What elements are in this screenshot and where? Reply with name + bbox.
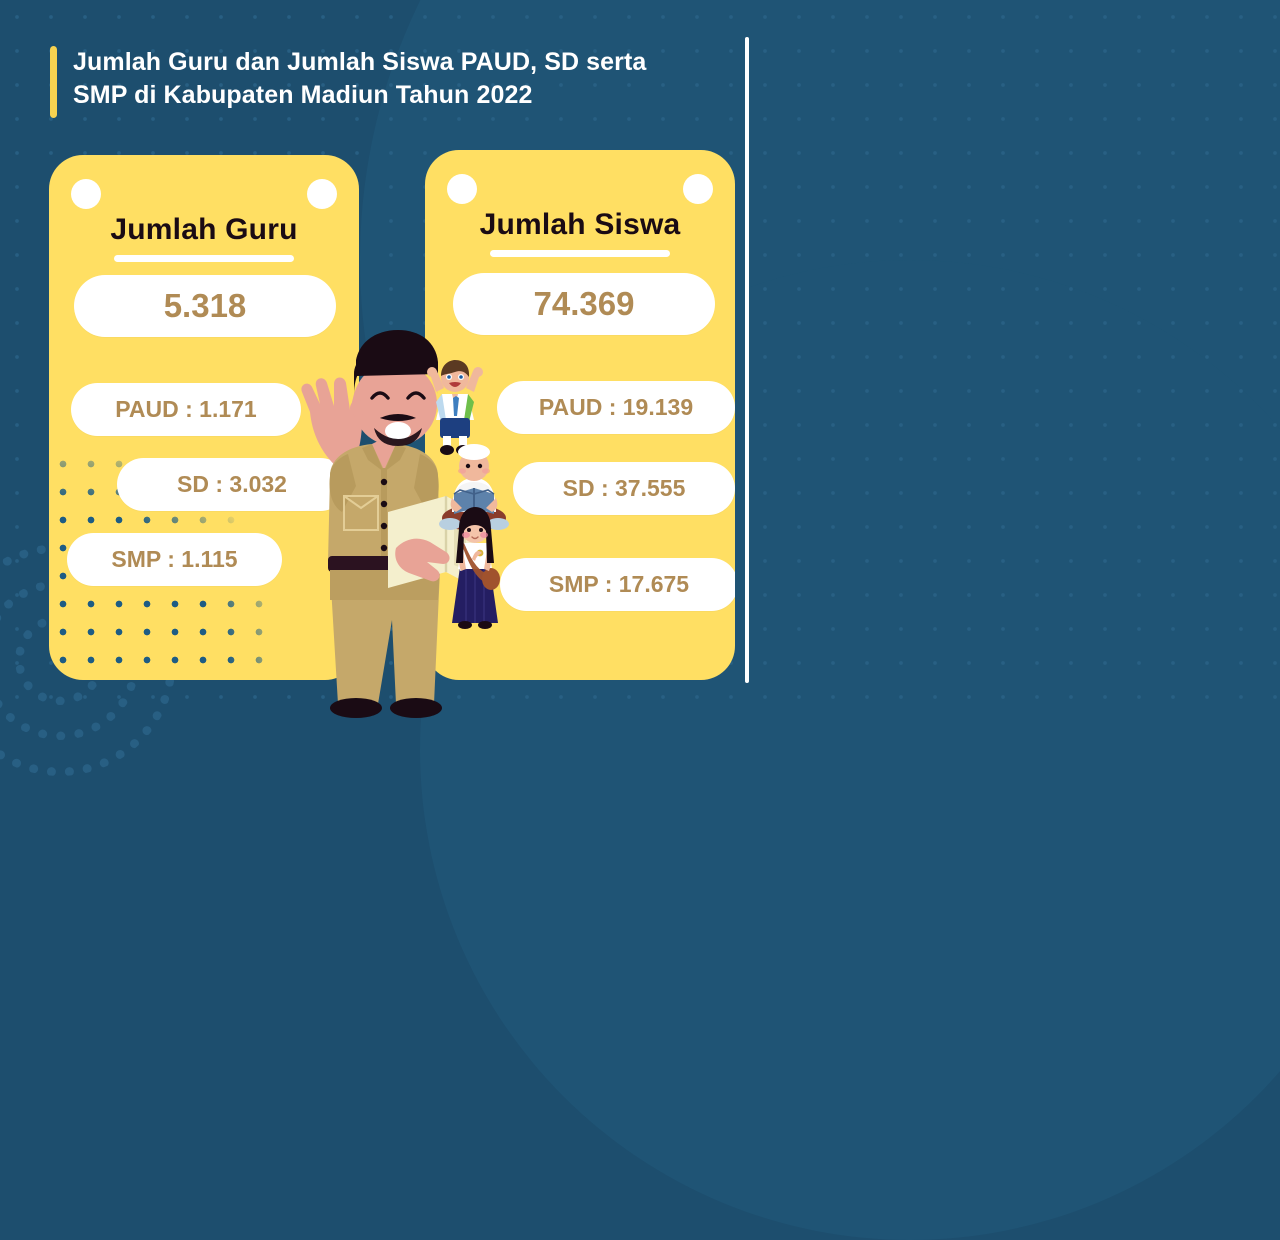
- card-jumlah-siswa: Jumlah Siswa 74.369 PAUD : 19.139 SD : 3…: [425, 150, 735, 680]
- guru-paud-pill: PAUD : 1.171: [71, 383, 301, 436]
- siswa-paud-pill: PAUD : 19.139: [497, 381, 735, 434]
- left-panel-title: Jumlah Guru dan Jumlah Siswa PAUD, SD se…: [73, 46, 646, 111]
- right-panel: Jumlah Guru dan Jumlah Siswa jenjang pen…: [747, 0, 1280, 720]
- card-hole-right: [683, 174, 713, 204]
- card-jumlah-guru: Jumlah Guru 5.318 PAUD : 1.171 SD : 3.03…: [49, 155, 359, 680]
- guru-sd-pill: SD : 3.032: [117, 458, 347, 511]
- card-siswa-title: Jumlah Siswa: [425, 208, 735, 242]
- left-panel-heading: Jumlah Guru dan Jumlah Siswa PAUD, SD se…: [50, 46, 710, 118]
- guru-total-pill: 5.318: [74, 275, 336, 337]
- heading-accent-bar: [50, 46, 57, 118]
- guru-smp-pill: SMP : 1.115: [67, 533, 282, 586]
- siswa-smp-pill: SMP : 17.675: [500, 558, 735, 611]
- card-hole-right: [307, 179, 337, 209]
- left-panel: Jumlah Guru dan Jumlah Siswa PAUD, SD se…: [0, 0, 747, 720]
- card-hole-left: [447, 174, 477, 204]
- card-guru-title: Jumlah Guru: [49, 213, 359, 247]
- siswa-total-pill: 74.369: [453, 273, 715, 335]
- card-title-underline: [490, 250, 670, 257]
- card-title-underline: [114, 255, 294, 262]
- card-hole-left: [71, 179, 101, 209]
- siswa-sd-pill: SD : 37.555: [513, 462, 735, 515]
